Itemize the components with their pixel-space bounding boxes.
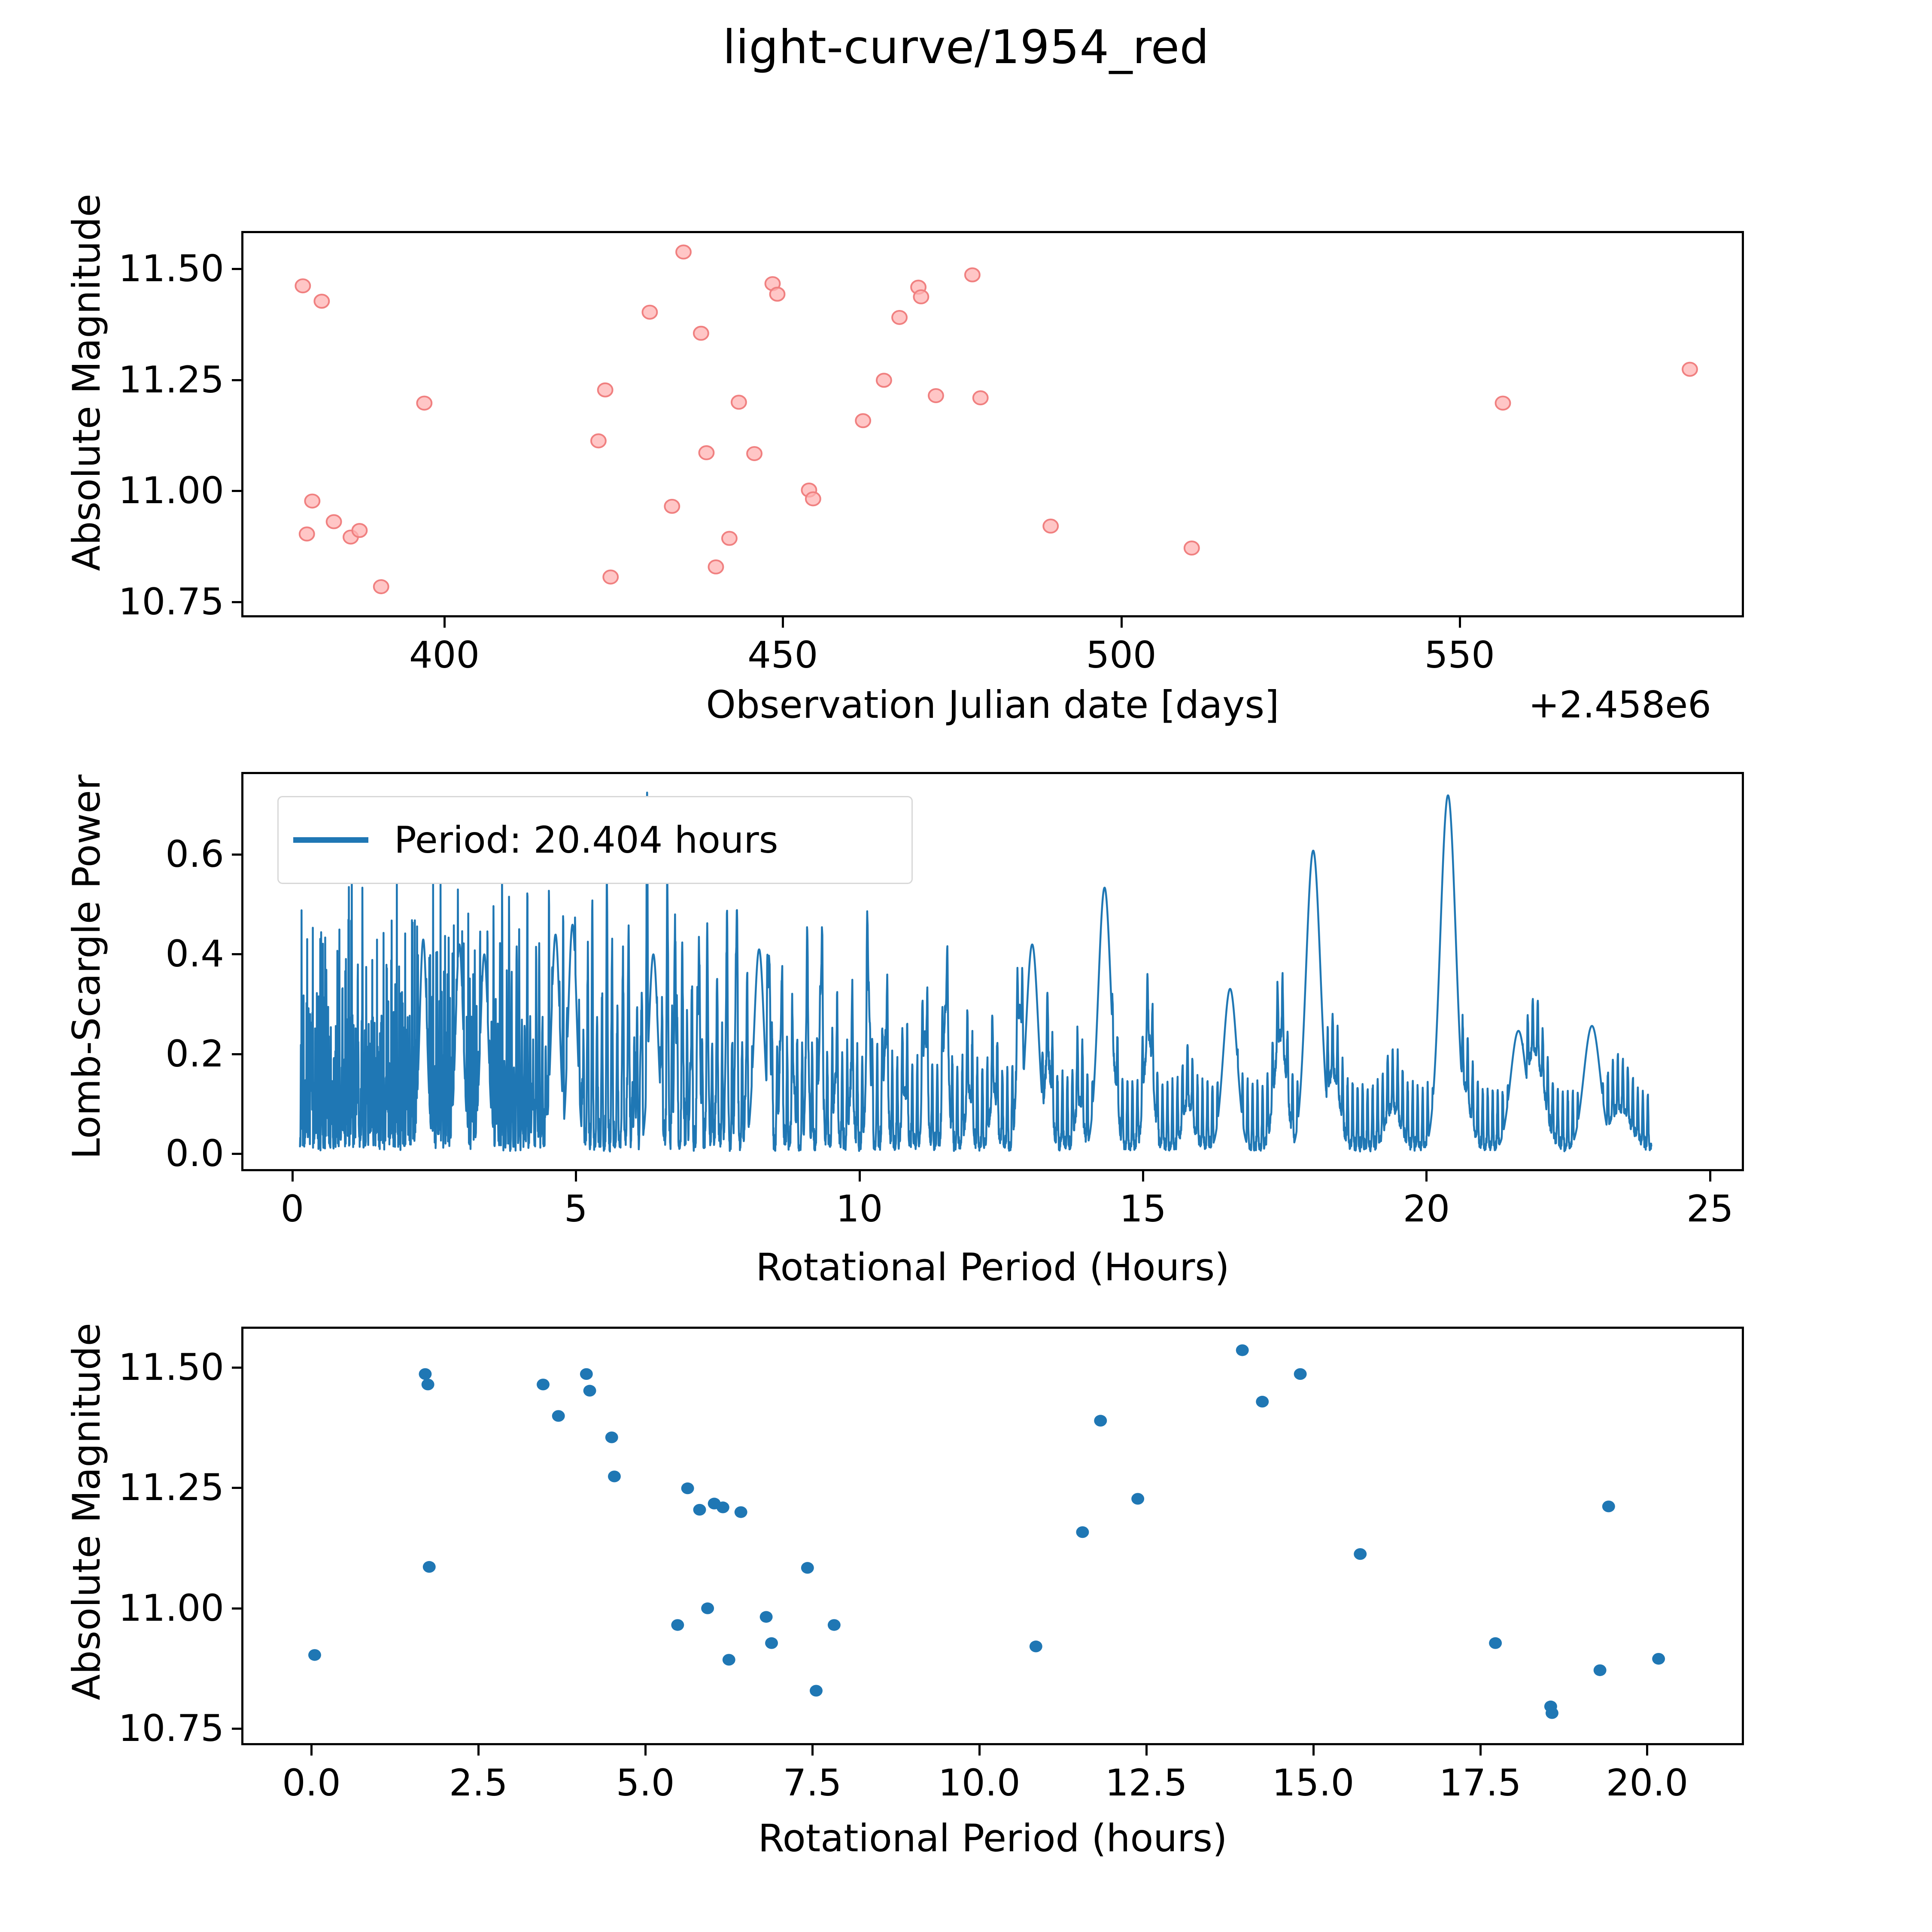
data-point: [965, 268, 980, 282]
y-tick-mark: [232, 1728, 241, 1730]
x-tick-label: 7.5: [783, 1762, 842, 1804]
data-point: [914, 290, 928, 304]
x-tick-label: 450: [747, 634, 818, 677]
x-tick-mark: [811, 1745, 814, 1756]
data-point: [1496, 396, 1510, 410]
data-point: [694, 327, 708, 340]
data-point: [929, 389, 943, 402]
data-point: [735, 1506, 747, 1518]
data-point: [580, 1368, 593, 1380]
data-point: [1094, 1415, 1107, 1426]
data-point: [810, 1685, 823, 1696]
figure-title: light-curve/1954_red: [0, 21, 1932, 74]
data-point: [1594, 1665, 1607, 1676]
panel1-x-axis-label: Observation Julian date [days]: [706, 683, 1279, 727]
x-tick-label: 2.5: [449, 1762, 508, 1804]
y-tick-mark: [232, 1053, 241, 1055]
y-tick-mark: [232, 854, 241, 856]
panel3-x-axis-label: Rotational Period (hours): [758, 1816, 1227, 1860]
data-point: [1030, 1640, 1042, 1652]
x-tick-mark: [978, 1745, 981, 1756]
x-tick-label: 10: [836, 1188, 883, 1230]
data-point: [708, 560, 723, 574]
data-point: [1294, 1368, 1307, 1380]
data-point: [828, 1619, 841, 1631]
data-point: [1185, 541, 1199, 555]
data-point: [1043, 519, 1058, 533]
y-tick-mark: [232, 953, 241, 955]
panel-raw-lightcurve: [241, 231, 1744, 617]
panel1-x-axis-offset-text: +2.458e6: [1528, 683, 1711, 726]
data-point: [1354, 1548, 1367, 1560]
x-tick-mark: [310, 1745, 313, 1756]
phase-folded-scatter: [243, 1329, 1742, 1743]
data-point: [300, 527, 314, 541]
data-point: [892, 311, 907, 324]
y-tick-label: 10.75: [61, 580, 224, 623]
data-point: [806, 492, 820, 505]
x-tick-label: 5.0: [616, 1762, 675, 1804]
data-point: [856, 414, 870, 427]
data-point: [642, 306, 657, 319]
x-tick-mark: [1312, 1745, 1315, 1756]
data-point: [877, 374, 891, 387]
x-tick-mark: [1646, 1745, 1648, 1756]
y-tick-mark: [232, 1487, 241, 1489]
y-tick-mark: [232, 268, 241, 270]
x-tick-label: 12.5: [1105, 1762, 1187, 1804]
data-point: [671, 1619, 684, 1631]
data-point: [308, 1649, 321, 1661]
x-tick-mark: [444, 617, 446, 628]
data-point: [723, 1654, 735, 1665]
x-tick-mark: [292, 1171, 294, 1182]
panel2-x-axis-label: Rotational Period (Hours): [756, 1245, 1229, 1289]
x-tick-label: 10.0: [938, 1762, 1020, 1804]
x-tick-mark: [1479, 1745, 1482, 1756]
data-point: [352, 524, 367, 537]
data-point: [701, 1602, 714, 1614]
panel-phase-folded-lightcurve: [241, 1327, 1744, 1745]
x-tick-label: 20.0: [1606, 1762, 1688, 1804]
data-point: [295, 279, 310, 292]
y-tick-mark: [232, 1367, 241, 1369]
x-tick-mark: [1121, 617, 1123, 628]
x-tick-label: 15: [1119, 1188, 1166, 1230]
x-tick-label: 5: [564, 1188, 588, 1230]
x-tick-label: 550: [1425, 634, 1495, 677]
periodogram-legend[interactable]: Period: 20.404 hours: [277, 796, 913, 884]
x-tick-label: 500: [1086, 634, 1156, 677]
raw-lightcurve-scatter: [243, 233, 1742, 615]
data-point: [374, 580, 389, 593]
data-point: [422, 1379, 434, 1390]
data-point: [1076, 1526, 1089, 1538]
data-point: [699, 446, 714, 459]
data-point: [973, 391, 988, 404]
x-tick-label: 0: [281, 1188, 304, 1230]
data-point: [801, 1562, 814, 1574]
data-point: [605, 1431, 618, 1443]
data-point: [1546, 1707, 1558, 1719]
data-point: [1256, 1396, 1269, 1407]
legend-line-sample: [293, 837, 368, 843]
data-point: [1489, 1637, 1502, 1649]
data-point: [598, 383, 613, 397]
y-tick-mark: [232, 1153, 241, 1155]
x-tick-mark: [1142, 1171, 1144, 1182]
data-point: [1683, 363, 1697, 376]
x-tick-mark: [1709, 1171, 1711, 1182]
data-point: [747, 447, 762, 460]
data-point: [419, 1368, 431, 1380]
data-point: [722, 532, 737, 545]
panel1-y-axis-label: Absolute Magnitude: [64, 194, 109, 571]
x-tick-label: 17.5: [1439, 1762, 1521, 1804]
legend-label-period: Period: 20.404 hours: [394, 819, 778, 862]
y-tick-mark: [232, 379, 241, 381]
x-tick-label: 25: [1686, 1188, 1733, 1230]
y-tick-mark: [232, 601, 241, 603]
data-point: [314, 295, 329, 308]
data-point: [681, 1482, 694, 1494]
data-point: [608, 1470, 621, 1482]
data-point: [1602, 1501, 1615, 1512]
y-tick-mark: [232, 490, 241, 492]
x-tick-mark: [782, 617, 784, 628]
panel2-y-axis-label: Lomb-Scargle Power: [64, 775, 109, 1159]
data-point: [1652, 1653, 1665, 1665]
panel3-y-axis-label: Absolute Magnitude: [64, 1323, 109, 1700]
data-point: [760, 1611, 773, 1622]
x-tick-label: 0.0: [282, 1762, 341, 1804]
data-point: [717, 1501, 729, 1513]
data-point: [676, 246, 691, 259]
data-point: [770, 288, 785, 301]
data-point: [417, 396, 431, 410]
x-tick-label: 20: [1403, 1188, 1450, 1230]
data-point: [1236, 1344, 1249, 1356]
data-point: [603, 571, 618, 584]
data-point: [732, 395, 746, 409]
data-point: [591, 434, 606, 447]
x-tick-mark: [477, 1745, 480, 1756]
figure-canvas: light-curve/1954_red 10.7511.0011.2511.5…: [0, 0, 1932, 1932]
data-point: [1131, 1493, 1144, 1504]
x-tick-mark: [575, 1171, 577, 1182]
data-point: [765, 1637, 778, 1649]
y-tick-label: 10.75: [61, 1707, 224, 1750]
data-point: [305, 495, 319, 508]
x-tick-mark: [1425, 1171, 1428, 1182]
data-point: [693, 1504, 706, 1516]
data-point: [665, 500, 679, 513]
x-tick-mark: [644, 1745, 647, 1756]
x-tick-label: 400: [409, 634, 480, 677]
y-tick-mark: [232, 1607, 241, 1610]
x-tick-mark: [1459, 617, 1461, 628]
x-tick-label: 15.0: [1272, 1762, 1354, 1804]
data-point: [537, 1379, 550, 1390]
x-tick-mark: [859, 1171, 861, 1182]
x-tick-mark: [1145, 1745, 1148, 1756]
data-point: [552, 1410, 565, 1422]
data-point: [423, 1561, 436, 1573]
data-point: [583, 1385, 596, 1397]
data-point: [327, 515, 341, 529]
